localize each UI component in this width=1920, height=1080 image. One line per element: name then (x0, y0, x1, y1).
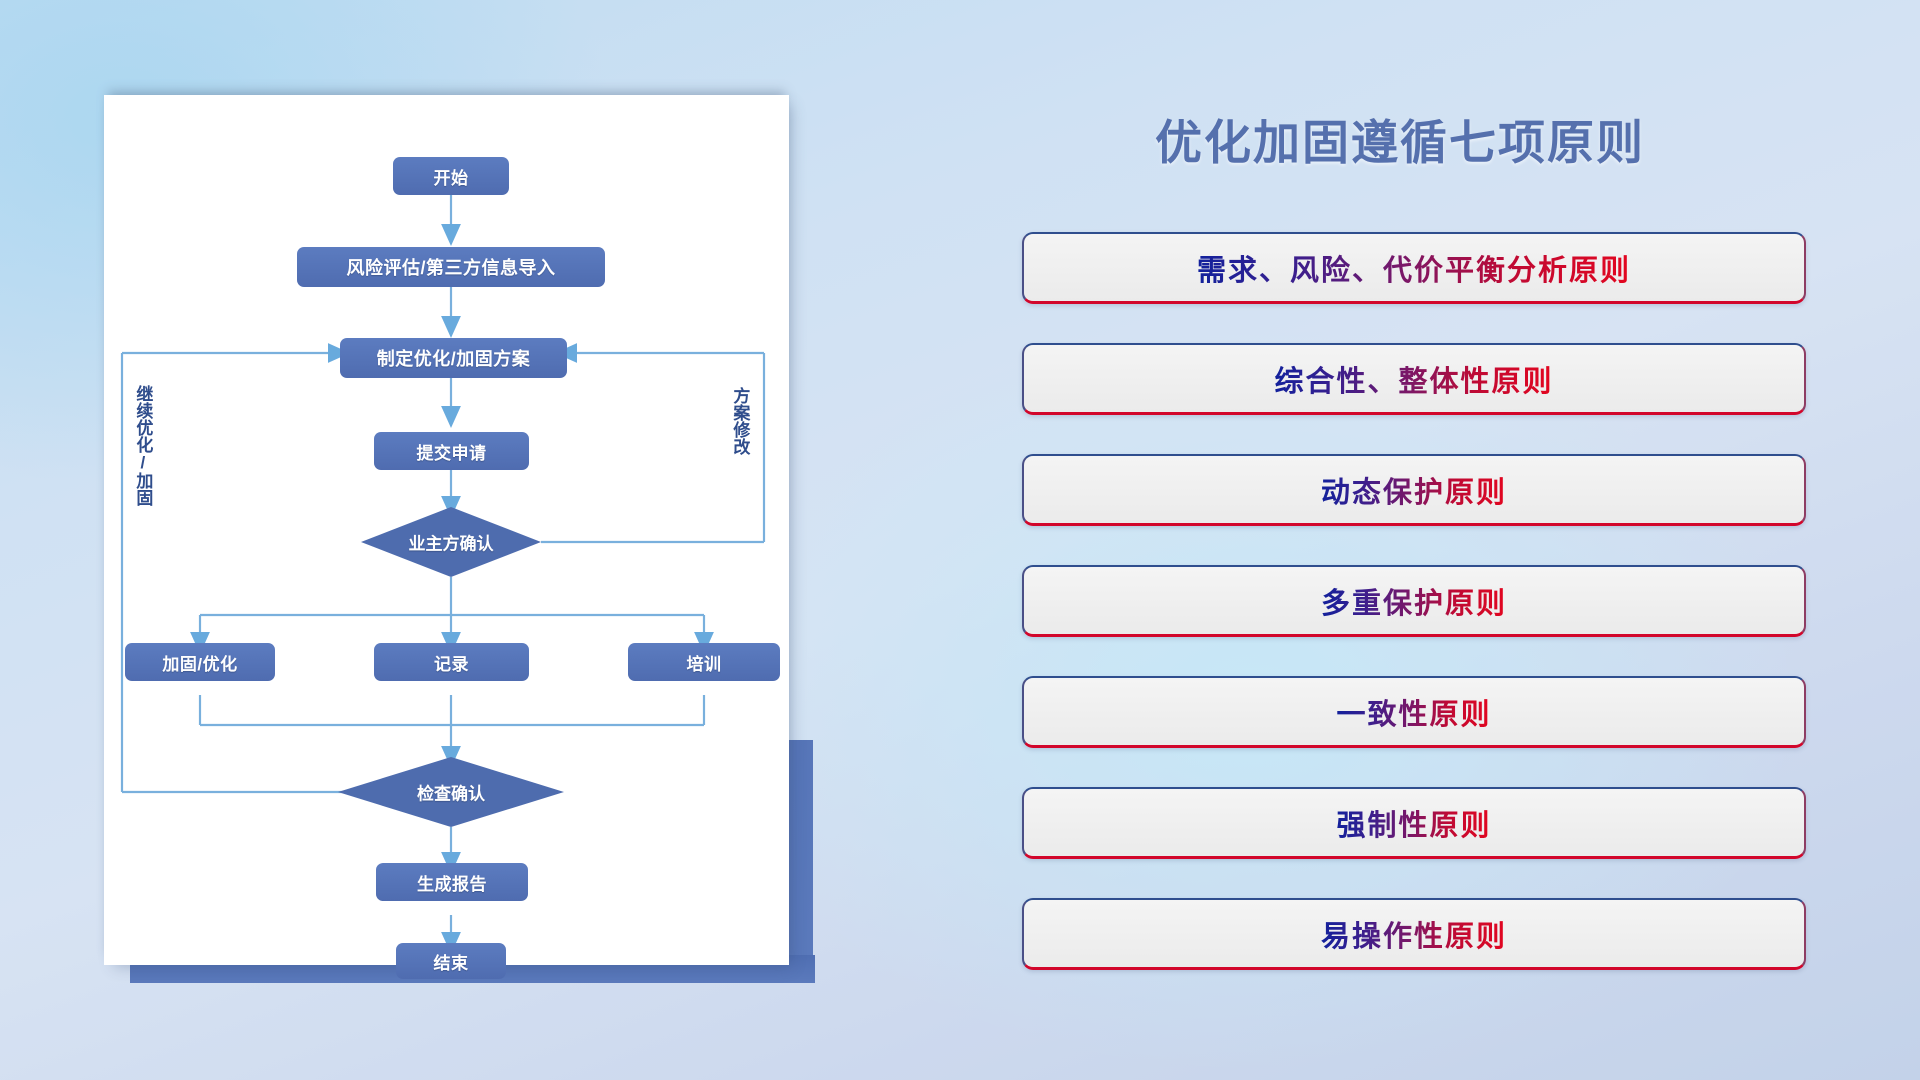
principles-list: 需求、风险、代价平衡分析原则 综合性、整体性原则 动态保护原则 多重保护原则 一… (1022, 232, 1806, 970)
node-start[interactable]: 开始 (393, 157, 509, 195)
principle-label: 一致性原则 (1336, 691, 1491, 733)
principle-card[interactable]: 动态保护原则 (1022, 454, 1806, 526)
edge-label-continue-optimize: 继续优化/加固 (134, 385, 151, 506)
node-generate-report[interactable]: 生成报告 (376, 863, 528, 901)
principle-label: 需求、风险、代价平衡分析原则 (1197, 247, 1631, 289)
principle-label: 综合性、整体性原则 (1274, 358, 1553, 400)
node-reinforce-optimize[interactable]: 加固/优化 (125, 643, 275, 681)
principle-label: 多重保护原则 (1321, 580, 1507, 622)
node-end[interactable]: 结束 (396, 943, 506, 979)
edge-label-plan-revision: 方案修改 (731, 387, 748, 455)
node-record[interactable]: 记录 (374, 643, 529, 681)
slide-canvas: 开始 风险评估/第三方信息导入 制定优化/加固方案 提交申请 业主方确认 加固/… (0, 0, 1920, 1080)
node-make-plan[interactable]: 制定优化/加固方案 (340, 338, 567, 378)
principle-card[interactable]: 多重保护原则 (1022, 565, 1806, 637)
principle-card[interactable]: 一致性原则 (1022, 676, 1806, 748)
decision-owner-confirm-label: 业主方确认 (409, 530, 494, 555)
page-title: 优化加固遵循七项原则 (1000, 104, 1800, 173)
node-generate-report-label: 生成报告 (417, 870, 487, 895)
node-end-label: 结束 (434, 949, 469, 974)
principle-card[interactable]: 需求、风险、代价平衡分析原则 (1022, 232, 1806, 304)
flowchart-panel: 开始 风险评估/第三方信息导入 制定优化/加固方案 提交申请 业主方确认 加固/… (104, 95, 789, 965)
node-make-plan-label: 制定优化/加固方案 (377, 345, 531, 371)
principle-label: 易操作性原则 (1321, 913, 1507, 955)
node-training[interactable]: 培训 (628, 643, 780, 681)
node-record-label: 记录 (434, 650, 469, 675)
principle-label: 动态保护原则 (1321, 469, 1507, 511)
node-submit-application-label: 提交申请 (417, 439, 487, 464)
node-start-label: 开始 (434, 164, 469, 189)
node-training-label: 培训 (687, 650, 722, 675)
node-risk-assessment[interactable]: 风险评估/第三方信息导入 (297, 247, 605, 287)
node-submit-application[interactable]: 提交申请 (374, 432, 529, 470)
node-reinforce-optimize-label: 加固/优化 (162, 650, 237, 675)
node-risk-assessment-label: 风险评估/第三方信息导入 (347, 254, 556, 280)
principle-label: 强制性原则 (1336, 802, 1491, 844)
decision-check-confirm-label: 检查确认 (417, 780, 485, 805)
principle-card[interactable]: 易操作性原则 (1022, 898, 1806, 970)
principle-card[interactable]: 强制性原则 (1022, 787, 1806, 859)
principle-card[interactable]: 综合性、整体性原则 (1022, 343, 1806, 415)
